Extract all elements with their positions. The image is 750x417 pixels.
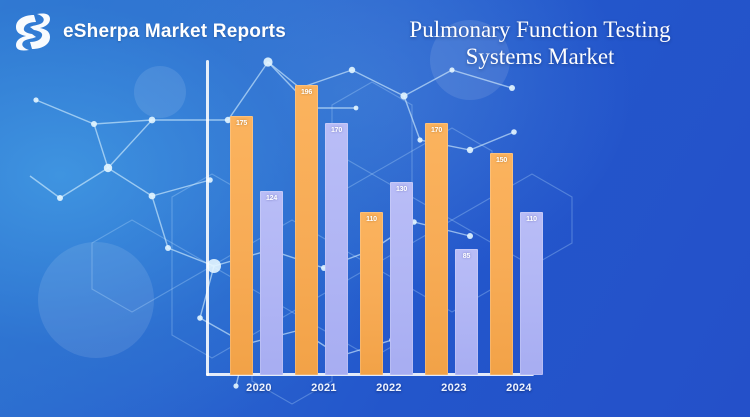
- x-axis-label-2023: 2023: [425, 382, 483, 394]
- bar-chart: 175 124 196 170 110 130 170: [206, 60, 536, 378]
- market-report-banner: eSherpa Market Reports Pulmonary Functio…: [0, 0, 750, 417]
- brand-name: eSherpa Market Reports: [63, 21, 286, 43]
- bar-value-label: 124: [260, 195, 283, 202]
- x-axis-label-2021: 2021: [295, 382, 353, 394]
- bar-group-2023: 170 85: [425, 64, 483, 375]
- bar-orange-2022[interactable]: 110: [360, 212, 383, 375]
- bar-value-label: 110: [360, 216, 383, 223]
- bar-orange-2024[interactable]: 150: [490, 153, 513, 375]
- bar-value-label: 175: [230, 120, 253, 127]
- brand-logo[interactable]: eSherpa Market Reports: [10, 10, 286, 54]
- bar-value-label: 130: [390, 186, 413, 193]
- bar-value-label: 170: [425, 127, 448, 134]
- x-axis-label-2022: 2022: [360, 382, 418, 394]
- bar-orange-2023[interactable]: 170: [425, 123, 448, 375]
- bar-purple-2024[interactable]: 110: [520, 212, 543, 375]
- bar-orange-2020[interactable]: 175: [230, 116, 253, 375]
- bar-value-label: 170: [325, 127, 348, 134]
- bar-purple-2020[interactable]: 124: [260, 191, 283, 375]
- bar-value-label: 150: [490, 157, 513, 164]
- bar-group-2021: 196 170: [295, 64, 353, 375]
- bar-value-label: 110: [520, 216, 543, 223]
- bar-value-label: 85: [455, 253, 478, 260]
- bar-purple-2023[interactable]: 85: [455, 249, 478, 375]
- bar-purple-2021[interactable]: 170: [325, 123, 348, 375]
- bar-orange-2021[interactable]: 196: [295, 85, 318, 375]
- bar-group-2024: 150 110: [490, 64, 548, 375]
- x-axis-label-2020: 2020: [230, 382, 288, 394]
- x-axis-label-2024: 2024: [490, 382, 548, 394]
- bar-group-2020: 175 124: [230, 64, 288, 375]
- esherpa-s-logo-icon: [10, 10, 54, 54]
- bar-group-2022: 110 130: [360, 64, 418, 375]
- bar-value-label: 196: [295, 89, 318, 96]
- report-title-line1: Pulmonary Function Testing: [360, 16, 720, 43]
- y-axis-line: [206, 60, 209, 376]
- bar-purple-2022[interactable]: 130: [390, 182, 413, 375]
